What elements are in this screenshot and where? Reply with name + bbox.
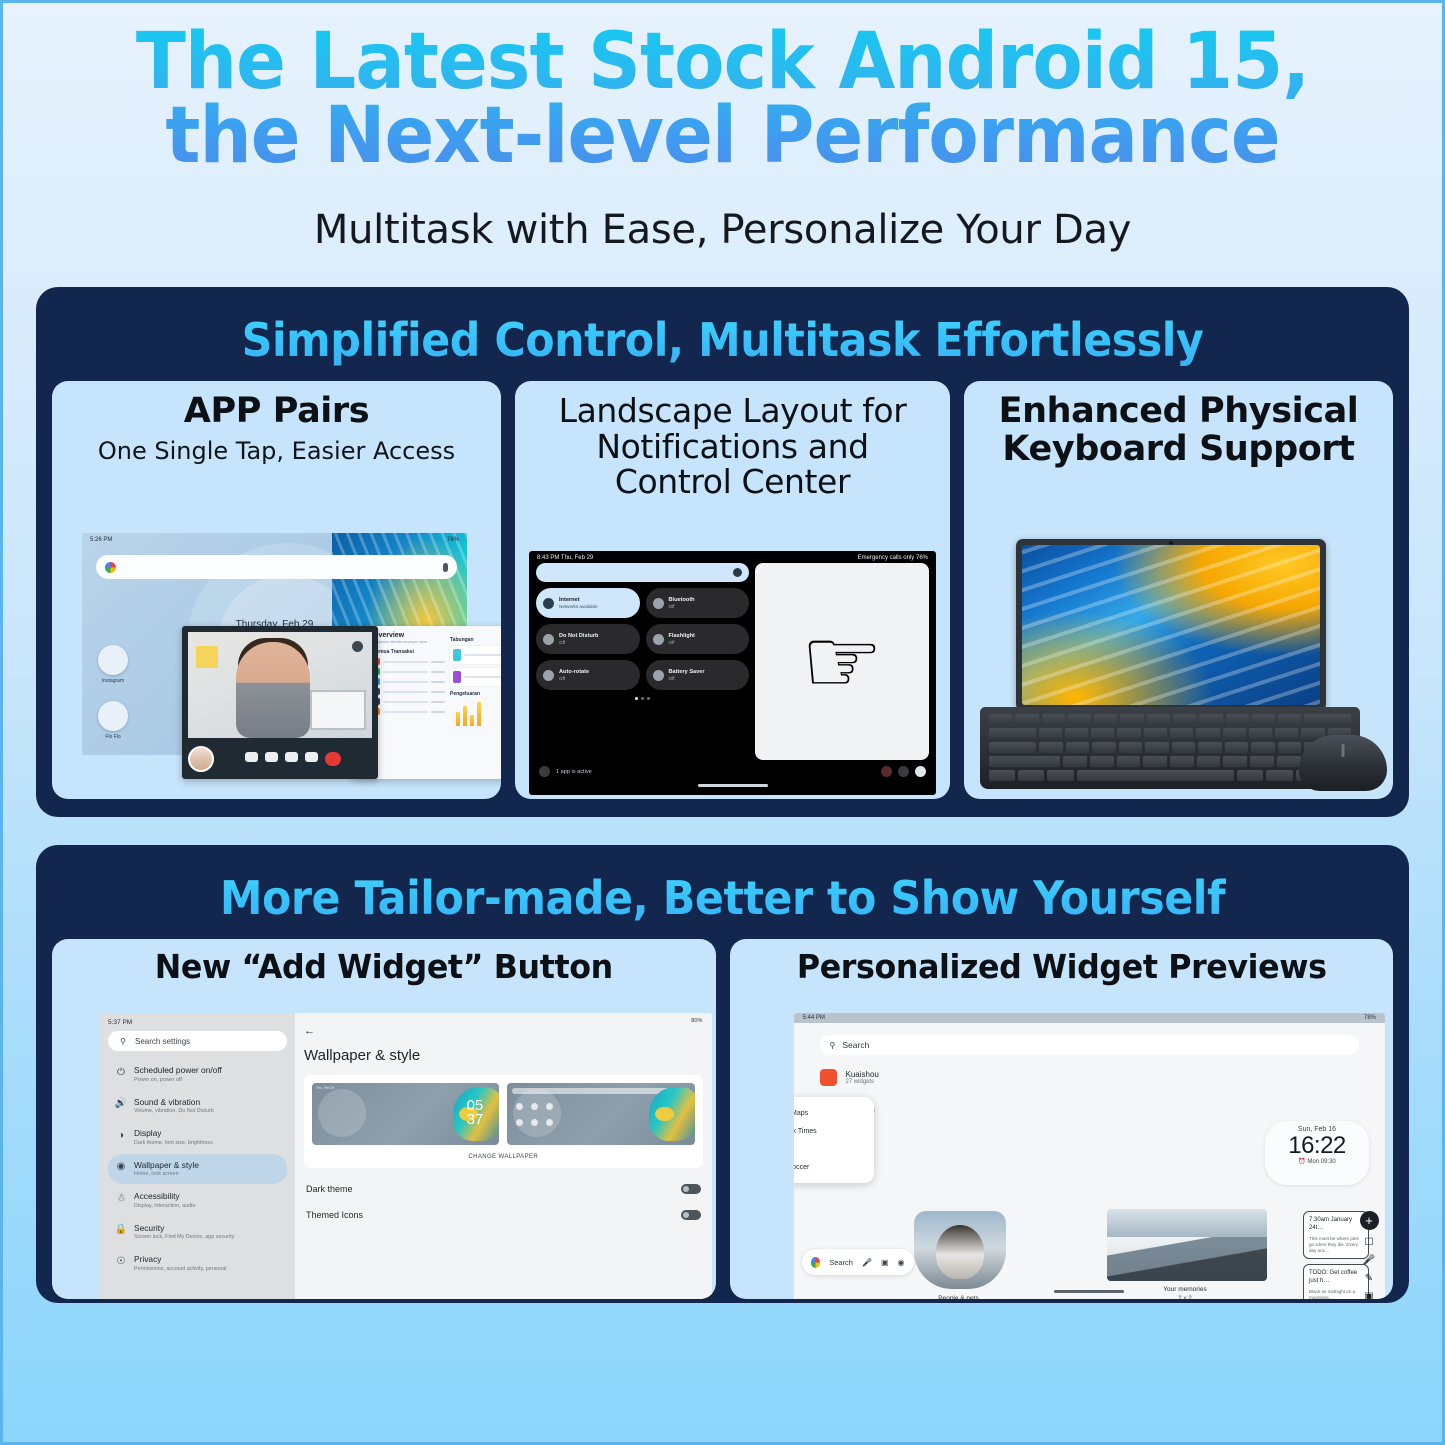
dashboard-transactions-heading: Semua Transaksi — [373, 649, 445, 655]
section1-title: Simplified Control, Multitask Effortless… — [99, 303, 1346, 381]
bar — [463, 706, 467, 726]
row-amount — [431, 711, 445, 713]
sticky-note — [196, 646, 218, 668]
row-line — [383, 681, 428, 683]
tap-hand-icon: ☞ — [801, 616, 883, 708]
camera-icon[interactable]: ▣ — [881, 1258, 889, 1267]
savings-line — [464, 654, 501, 656]
item-text: Sound & vibration Volume, vibration, Do … — [134, 1097, 214, 1116]
keyboard-row — [989, 728, 1351, 739]
cc-footer: 1 app is active — [529, 760, 936, 782]
memories-size: 2 × 2 — [1178, 1296, 1192, 1299]
section-tailor-made: More Tailor-made, Better to Show Yoursel… — [36, 845, 1409, 1303]
savings-card[interactable] — [450, 646, 501, 664]
people-pets-caption: People & pets 2 × 2 — [884, 1294, 1034, 1299]
tile-state: Networks available — [559, 604, 598, 610]
dot — [647, 697, 650, 700]
overlay-label: Google Maps — [794, 1110, 809, 1117]
mic-icon[interactable]: 🎤 — [1363, 1255, 1375, 1266]
avatar — [188, 746, 214, 772]
bar — [456, 712, 460, 726]
transaction-row[interactable] — [373, 668, 445, 675]
nav-handle[interactable] — [698, 784, 768, 787]
settings-detail-pane: 80% ← Wallpaper & style Thu, Feb 29 — [295, 1013, 712, 1299]
section-simplified-control: Simplified Control, Multitask Effortless… — [36, 287, 1409, 817]
change-wallpaper-button[interactable]: CHANGE WALLPAPER — [312, 1154, 695, 1160]
app-shortcut-overlay: Google Maps New York Times Yahoo ES — [794, 1097, 874, 1183]
page-title-line2: the Next-level Performance — [84, 99, 1361, 173]
clock-alarm-text: Mon 09:30 — [1307, 1159, 1335, 1165]
app-pairs-mock: 5:26 PM 76% Thursday, Feb 29 Instagram F… — [82, 533, 493, 797]
widget-picker-mock: 5:44 PM 78% ⚲ Search Kuaishou 27 widgets — [794, 1013, 1386, 1299]
item-text: Accessibility Display, interaction, audi… — [134, 1191, 195, 1210]
cc-emergency-text: Emergency calls only — [858, 555, 915, 561]
app-meta: 27 widgets — [846, 1079, 879, 1085]
item-label: Sound & vibration — [134, 1097, 214, 1108]
savings-card[interactable] — [450, 668, 501, 686]
item-label: Accessibility — [134, 1191, 195, 1202]
dashboard-savings-heading: Tabungan — [450, 637, 501, 643]
more-button[interactable] — [305, 752, 318, 762]
chrome-search-label: Search — [829, 1258, 853, 1267]
image-icon[interactable]: ▣ — [1364, 1291, 1373, 1299]
call-controls — [214, 752, 372, 766]
card-add-widget-button[interactable]: New “Add Widget” Button 5:37 PM ⚲ Search… — [52, 939, 716, 1299]
note-title: TODO: Get coffee just h… — [1309, 1270, 1363, 1286]
widget-status-time: 5:44 PM — [803, 1015, 825, 1021]
search-settings-input[interactable]: ⚲ Search settings — [108, 1031, 287, 1051]
overlay-label: ESPN Soccer — [794, 1164, 810, 1171]
chrome-search-pill[interactable]: Search 🎤 ▣ ◉ — [802, 1249, 914, 1275]
settings-gear-icon[interactable] — [898, 766, 909, 777]
item-text: Wallpaper & style Home, lock screen — [134, 1160, 199, 1179]
tile-label: Flashlight — [669, 633, 695, 640]
dashboard-subtitle: Ringkasan aktivitas keuangan kamu — [373, 640, 445, 644]
cc-status-bar: 8:43 PM Thu, Feb 29 Emergency calls only… — [529, 551, 936, 563]
wifi-icon — [543, 598, 554, 609]
bluetooth-icon — [653, 598, 664, 609]
item-desc: Power on, power off — [134, 1077, 222, 1084]
item-desc: Dark theme, font size, brightness — [134, 1140, 213, 1147]
search-settings-placeholder: Search settings — [135, 1037, 190, 1046]
sidebar-item-display[interactable]: ◑ Display Dark theme, font size, brightn… — [108, 1122, 287, 1153]
tile-internet[interactable]: Internet Networks available — [536, 588, 640, 618]
item-text: Display Dark theme, font size, brightnes… — [134, 1128, 213, 1147]
card-keyboard-title-line2: Keyboard Support — [974, 431, 1383, 469]
keyboard-mock — [964, 539, 1393, 799]
dashboard-main-column: Overview Ringkasan aktivitas keuangan ka… — [373, 632, 445, 773]
row-line — [383, 711, 428, 713]
lock-clock: 05 37 — [467, 1099, 484, 1127]
card-keyboard-title-line1: Enhanced Physical — [974, 393, 1383, 431]
accessibility-icon: ☃ — [115, 1192, 127, 1204]
google-search-bar[interactable] — [96, 555, 457, 579]
tile-label: Bluetooth — [669, 597, 695, 604]
brightness-slider[interactable] — [536, 563, 749, 582]
overlay-item-new-york-times[interactable]: New York Times — [794, 1122, 874, 1140]
widget-app-kuaishou[interactable]: Kuaishou 27 widgets — [794, 1063, 1386, 1092]
control-center-mock: 8:43 PM Thu, Feb 29 Emergency calls only… — [529, 551, 936, 795]
themed-icons-toggle[interactable] — [681, 1210, 701, 1220]
page-subtitle: Multitask with Ease, Personalize Your Da… — [43, 207, 1402, 253]
app-label-floflo: Flo Flo — [90, 734, 136, 740]
transaction-row[interactable] — [373, 658, 445, 665]
row-line — [383, 691, 428, 693]
power-icon[interactable] — [881, 766, 892, 777]
tile-text: Internet Networks available — [559, 597, 598, 610]
flashlight-icon — [653, 634, 664, 645]
preview-status: Thu, Feb 29 — [316, 1086, 334, 1090]
monitor — [310, 690, 366, 730]
checklist-icon[interactable]: ☐ — [1365, 1237, 1374, 1248]
row-amount — [431, 681, 445, 683]
back-arrow-icon[interactable]: ← — [304, 1025, 703, 1037]
home-status-bar: 5:26 PM 76% — [82, 533, 467, 547]
overlay-label: New York Times — [794, 1128, 817, 1135]
card-add-widget-title: New “Add Widget” Button — [73, 949, 695, 985]
battery-saver-icon — [653, 670, 664, 681]
display-icon: ◑ — [115, 1129, 127, 1141]
card-landscape-layout[interactable]: Landscape Layout for Notifications and C… — [515, 381, 950, 799]
clock-widget[interactable]: Sun, Feb 16 16:22 ⏰ Mon 09:30 — [1265, 1121, 1369, 1185]
widget-status-battery: 78% — [1364, 1015, 1376, 1021]
dot-active — [635, 697, 638, 700]
overlay-item-google-maps[interactable]: Google Maps — [794, 1104, 874, 1122]
keyboard-row — [989, 714, 1351, 725]
item-desc: Screen lock, Find My Device, app securit… — [134, 1234, 234, 1241]
dark-theme-label: Dark theme — [306, 1184, 353, 1194]
card-widget-previews[interactable]: Personalized Widget Previews 5:44 PM 78%… — [730, 939, 1394, 1299]
item-desc: Display, interaction, audio — [134, 1203, 195, 1210]
item-desc: Home, lock screen — [134, 1171, 199, 1178]
card-app-pairs[interactable]: APP Pairs One Single Tap, Easier Access … — [52, 381, 501, 799]
app-icon-instagram[interactable] — [98, 645, 128, 675]
savings-line — [464, 676, 501, 678]
dashboard-expenses-heading: Pengeluaran — [450, 691, 501, 697]
tile-text: Flashlight Off — [669, 633, 695, 646]
dnd-icon — [543, 634, 554, 645]
note-body: This must be where pies go when they die… — [1309, 1236, 1363, 1255]
app-text: Kuaishou 27 widgets — [846, 1070, 879, 1085]
card-landscape-title-line1: Landscape Layout for — [525, 393, 940, 429]
wallpaper-icon: ◉ — [115, 1161, 127, 1173]
app-icon-floflo[interactable] — [98, 701, 128, 731]
settings-mock: 5:37 PM ⚲ Search settings ⏻ Scheduled po… — [100, 1013, 712, 1299]
notes-toolbar: + ☐ 🎤 ✎ ▣ — [1359, 1211, 1379, 1299]
widget-status-bar: 5:44 PM 78% — [794, 1013, 1386, 1023]
cc-footer-text[interactable]: 1 app is active — [556, 769, 875, 775]
tile-state: Off — [559, 640, 598, 646]
promo-page: The Latest Stock Android 15, the Next-le… — [3, 3, 1442, 1442]
tile-state: Off — [669, 676, 705, 682]
video-button[interactable] — [285, 752, 298, 762]
auto-rotate-icon — [543, 670, 554, 681]
card-widget-previews-title: Personalized Widget Previews — [750, 949, 1372, 985]
dashboard-title: Overview — [373, 632, 445, 639]
dashboard-side-column: Tabungan Pengeluaran — [450, 632, 501, 773]
lock-clock-minutes: 37 — [467, 1111, 484, 1128]
people-pets-title: People & pets — [884, 1294, 1034, 1299]
video-call-window[interactable] — [182, 626, 378, 779]
app-label-instagram: Instagram — [90, 678, 136, 684]
tile-state: Off — [559, 676, 589, 682]
video-call-toolbar — [188, 744, 372, 774]
transaction-row[interactable] — [373, 678, 445, 685]
sidebar-item-security[interactable]: 🔒 Security Screen lock, Find My Device, … — [108, 1217, 287, 1248]
dashboard-body: Overview Ringkasan aktivitas keuangan ka… — [368, 626, 501, 779]
item-text: Security Screen lock, Find My Device, ap… — [134, 1223, 234, 1242]
overlay-item-yahoo[interactable]: Yahoo — [794, 1140, 874, 1158]
home-screen-preview[interactable] — [507, 1083, 694, 1145]
tile-bluetooth[interactable]: Bluetooth Off — [646, 588, 750, 618]
clock-time: 16:22 — [1265, 1133, 1369, 1158]
widget-search-input[interactable]: ⚲ Search — [820, 1035, 1360, 1055]
dot — [641, 697, 644, 700]
touch-gesture-illustration: ☞ — [755, 563, 929, 760]
sound-icon: 🔊 — [115, 1098, 127, 1110]
tile-flashlight[interactable]: Flashlight Off — [646, 624, 750, 654]
wallpaper-thumbnails: Thu, Feb 29 05 37 — [312, 1083, 695, 1145]
cc-status-left: 8:43 PM Thu, Feb 29 — [537, 555, 593, 561]
card-app-pairs-subtitle: One Single Tap, Easier Access — [62, 437, 491, 465]
camera-toggle-icon[interactable] — [352, 641, 363, 652]
savings-chip — [453, 671, 461, 683]
share-button[interactable] — [265, 752, 278, 762]
transaction-row[interactable] — [373, 698, 445, 705]
settings-sidebar: 5:37 PM ⚲ Search settings ⏻ Scheduled po… — [100, 1013, 295, 1299]
cc-battery: 76% — [916, 555, 928, 561]
tablet-wallpaper — [1022, 545, 1320, 705]
card-landscape-title-line3: Control Center — [525, 464, 940, 500]
transaction-row[interactable] — [373, 688, 445, 695]
settings-battery: 80% — [691, 1018, 702, 1024]
lens-icon[interactable]: ◉ — [898, 1258, 905, 1267]
themed-icons-label: Themed Icons — [306, 1210, 363, 1220]
tile-state: Off — [669, 604, 695, 610]
keyboard-row — [989, 742, 1351, 753]
item-label: Scheduled power on/off — [134, 1065, 222, 1076]
lock-icon: 🔒 — [115, 1224, 127, 1236]
keyboard-rows — [989, 714, 1351, 781]
add-note-icon[interactable]: + — [1360, 1211, 1379, 1230]
tile-text: Do Not Disturb Off — [559, 633, 598, 646]
item-desc: Permissions, account activity, personal — [134, 1266, 226, 1273]
bar — [470, 715, 474, 726]
card-app-pairs-title: APP Pairs — [62, 393, 491, 431]
item-label: Wallpaper & style — [134, 1160, 199, 1171]
tile-label: Internet — [559, 597, 598, 604]
note-body: Black as midnight on a moonless… — [1309, 1289, 1363, 1299]
wallpaper-preview-card: Thu, Feb 29 05 37 — [304, 1075, 703, 1168]
mic-icon[interactable]: 🎤 — [862, 1258, 872, 1267]
kuaishou-icon — [820, 1069, 837, 1086]
active-apps-icon — [539, 766, 550, 777]
mute-button[interactable] — [245, 752, 258, 762]
tile-text: Bluetooth Off — [669, 597, 695, 610]
participant-portrait — [236, 642, 310, 738]
tile-label: Battery Saver — [669, 669, 705, 676]
sidebar-item-sound-vibration[interactable]: 🔊 Sound & vibration Volume, vibration, D… — [108, 1091, 287, 1122]
item-text: Privacy Permissions, account activity, p… — [134, 1254, 226, 1273]
note-title: 7:30am January 24t… — [1309, 1217, 1363, 1233]
search-icon: ⚲ — [830, 1041, 836, 1050]
savings-chip — [453, 649, 461, 661]
user-switch-icon[interactable] — [915, 766, 926, 777]
cc-tile-grid: Internet Networks available Bluetooth Of… — [536, 588, 749, 690]
item-label: Privacy — [134, 1254, 226, 1265]
power-icon: ⏻ — [115, 1066, 127, 1078]
row-amount — [431, 671, 445, 673]
home-status-battery: 76% — [447, 537, 459, 543]
sidebar-item-scheduled-power[interactable]: ⏻ Scheduled power on/off Power on, power… — [108, 1059, 287, 1090]
preview-art — [649, 1087, 695, 1141]
tile-label: Do Not Disturb — [559, 633, 598, 640]
tile-do-not-disturb[interactable]: Do Not Disturb Off — [536, 624, 640, 654]
hero-section: The Latest Stock Android 15, the Next-le… — [3, 3, 1442, 253]
row-line — [383, 701, 428, 703]
page-indicator-dots[interactable] — [536, 697, 749, 700]
overlay-item-espn-soccer[interactable]: ESPN Soccer — [794, 1158, 874, 1176]
page-title: The Latest Stock Android 15, the Next-le… — [84, 25, 1361, 173]
setting-row-dark-theme[interactable]: Dark theme — [304, 1184, 703, 1194]
notes-widget-preview[interactable]: 7:30am January 24t… This must be where p… — [1303, 1211, 1369, 1299]
cc-body: Internet Networks available Bluetooth Of… — [529, 563, 936, 760]
lock-screen-preview[interactable]: Thu, Feb 29 05 37 — [312, 1083, 499, 1145]
widget-search-placeholder: Search — [842, 1040, 869, 1050]
settings-status-bar: 5:37 PM — [108, 1019, 287, 1026]
search-icon: ⚲ — [117, 1036, 129, 1048]
home-status-time: 5:26 PM — [90, 537, 112, 543]
tile-text: Auto-rotate Off — [559, 669, 589, 682]
tablet-device — [1016, 539, 1326, 711]
item-label: Display — [134, 1128, 213, 1139]
google-icon — [105, 562, 116, 573]
tile-state: Off — [669, 640, 695, 646]
item-text: Scheduled power on/off Power on, power o… — [134, 1065, 222, 1084]
wireless-mouse[interactable] — [1299, 735, 1387, 791]
memories-widget-preview[interactable] — [1107, 1209, 1267, 1281]
section2-cards: New “Add Widget” Button 5:37 PM ⚲ Search… — [52, 939, 1393, 1299]
preview-ring — [318, 1089, 366, 1137]
cc-status-right: Emergency calls only 76% — [858, 555, 928, 561]
privacy-icon: ☉ — [115, 1255, 127, 1267]
tile-text: Battery Saver Off — [669, 669, 705, 682]
detail-title: Wallpaper & style — [304, 1047, 703, 1064]
end-call-button[interactable] — [325, 752, 341, 766]
tile-label: Auto-rotate — [559, 669, 589, 676]
chrome-icon — [811, 1257, 821, 1268]
video-frame — [188, 632, 372, 738]
expenses-bar-chart — [450, 700, 501, 726]
transaction-row[interactable] — [373, 708, 445, 715]
people-pets-widget-preview[interactable] — [914, 1211, 1006, 1289]
nav-handle[interactable] — [1054, 1290, 1124, 1293]
sidebar-item-accessibility[interactable]: ☃ Accessibility Display, interaction, au… — [108, 1185, 287, 1216]
setting-row-themed-icons[interactable]: Themed Icons — [304, 1210, 703, 1220]
item-desc: Volume, vibration, Do Not Disturb — [134, 1108, 214, 1115]
card-keyboard-support[interactable]: Enhanced Physical Keyboard Support — [964, 381, 1393, 799]
row-amount — [431, 701, 445, 703]
keyboard-row — [989, 770, 1351, 781]
row-line — [383, 661, 428, 663]
pen-icon[interactable]: ✎ — [1365, 1273, 1373, 1284]
item-label: Security — [134, 1223, 234, 1234]
clock-alarm: ⏰ Mon 09:30 — [1265, 1158, 1369, 1165]
sidebar-item-privacy[interactable]: ☉ Privacy Permissions, account activity,… — [108, 1248, 287, 1279]
sidebar-item-wallpaper-style[interactable]: ◉ Wallpaper & style Home, lock screen — [108, 1154, 287, 1185]
cc-quick-settings: Internet Networks available Bluetooth Of… — [536, 563, 749, 760]
settings-status-time: 5:37 PM — [108, 1019, 132, 1026]
brightness-icon — [733, 568, 742, 577]
section2-title: More Tailor-made, Better to Show Yoursel… — [99, 861, 1346, 939]
row-amount — [431, 661, 445, 663]
row-line — [383, 671, 428, 673]
widget-app-maps[interactable]: Maps 5 shortcuts — [794, 1092, 1386, 1121]
preview-ring — [513, 1089, 561, 1137]
bar — [477, 702, 481, 726]
app-name: Kuaishou — [846, 1070, 879, 1079]
tile-battery-saver[interactable]: Battery Saver Off — [646, 660, 750, 690]
keyboard-row — [989, 756, 1351, 767]
tile-auto-rotate[interactable]: Auto-rotate Off — [536, 660, 640, 690]
dark-theme-toggle[interactable] — [681, 1184, 701, 1194]
mic-icon[interactable] — [443, 563, 448, 572]
section1-cards: APP Pairs One Single Tap, Easier Access … — [52, 381, 1393, 799]
row-amount — [431, 691, 445, 693]
card-landscape-title-line2: Notifications and — [525, 429, 940, 465]
